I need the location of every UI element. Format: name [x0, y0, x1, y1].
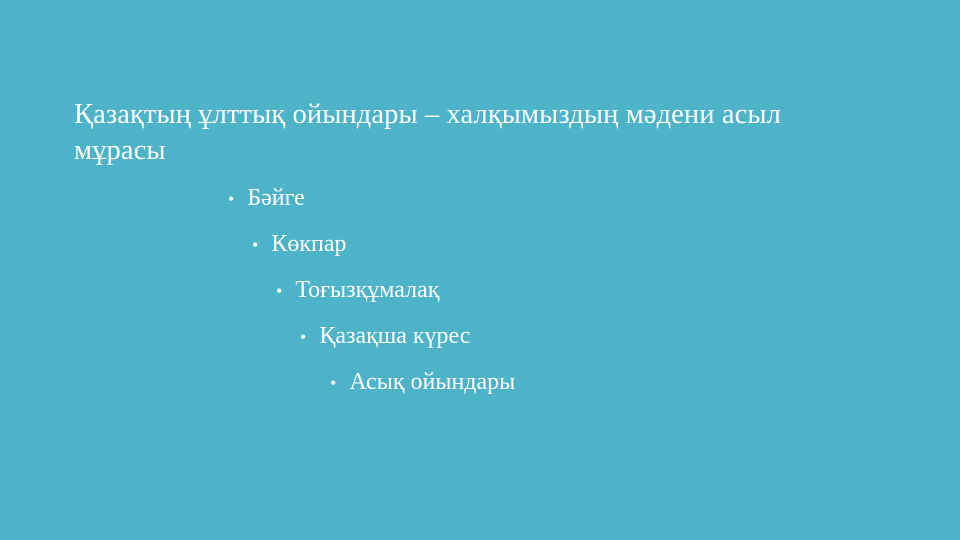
- list-item-label: Тоғызқұмалақ: [295, 267, 439, 313]
- bullet-point-icon: •: [252, 222, 258, 268]
- list-item-label: Бәйге: [247, 175, 304, 221]
- list-item: • Тоғызқұмалақ: [0, 267, 960, 313]
- slide-canvas: Қазақтың ұлттық ойындары – халқымыздың м…: [0, 0, 960, 540]
- bullet-point-icon: •: [228, 176, 234, 222]
- list-item-label: Көкпар: [271, 221, 346, 267]
- list-item-label: Асық ойындары: [349, 359, 515, 405]
- bullet-point-icon: •: [330, 360, 336, 406]
- list-item: • Көкпар: [0, 221, 960, 267]
- list-item-label: Қазақша күрес: [319, 313, 470, 359]
- page-title: Қазақтың ұлттық ойындары – халқымыздың м…: [74, 97, 874, 169]
- list-item: • Қазақша күрес: [0, 313, 960, 359]
- bullet-point-icon: •: [300, 314, 306, 360]
- bullet-list: • Бәйге • Көкпар • Тоғызқұмалақ • Қазақш…: [0, 175, 960, 405]
- list-item: • Бәйге: [0, 175, 960, 221]
- list-item: • Асық ойындары: [0, 359, 960, 405]
- slide-title-block: Қазақтың ұлттық ойындары – халқымыздың м…: [74, 97, 874, 169]
- bullet-point-icon: •: [276, 268, 282, 314]
